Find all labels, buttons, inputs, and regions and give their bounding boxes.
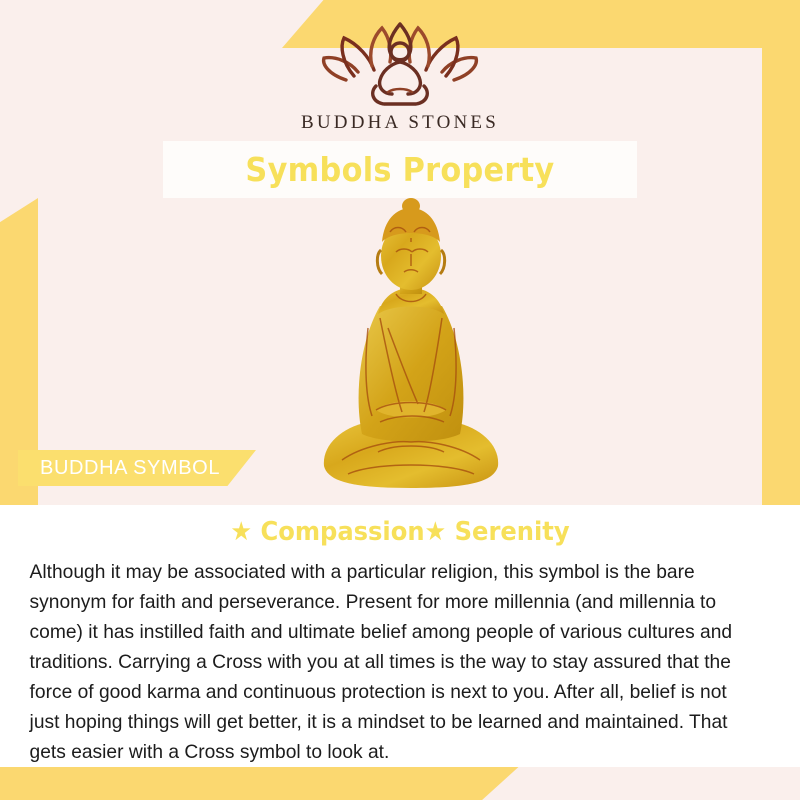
brand-name: BUDDHA STONES [0,112,800,134]
ribbon-label: BUDDHA SYMBOL [18,457,220,480]
section-subtitle: ★ Compassion★ Serenity [28,505,772,547]
decor-frame-bottom [0,762,524,800]
buddha-statue-image [318,198,504,494]
content-panel: ★ Compassion★ Serenity Although it may b… [0,505,800,767]
brand-logo-block: BUDDHA STONES [0,18,800,134]
page-title-band: Symbols Property [163,141,637,198]
section-body-text: Although it may be associated with a par… [0,547,788,767]
page-title: Symbols Property [245,150,554,189]
infographic-page: BUDDHA STONES Symbols Property [0,0,800,800]
lotus-meditation-icon [0,18,800,110]
buddha-symbol-ribbon: BUDDHA SYMBOL [18,450,256,486]
